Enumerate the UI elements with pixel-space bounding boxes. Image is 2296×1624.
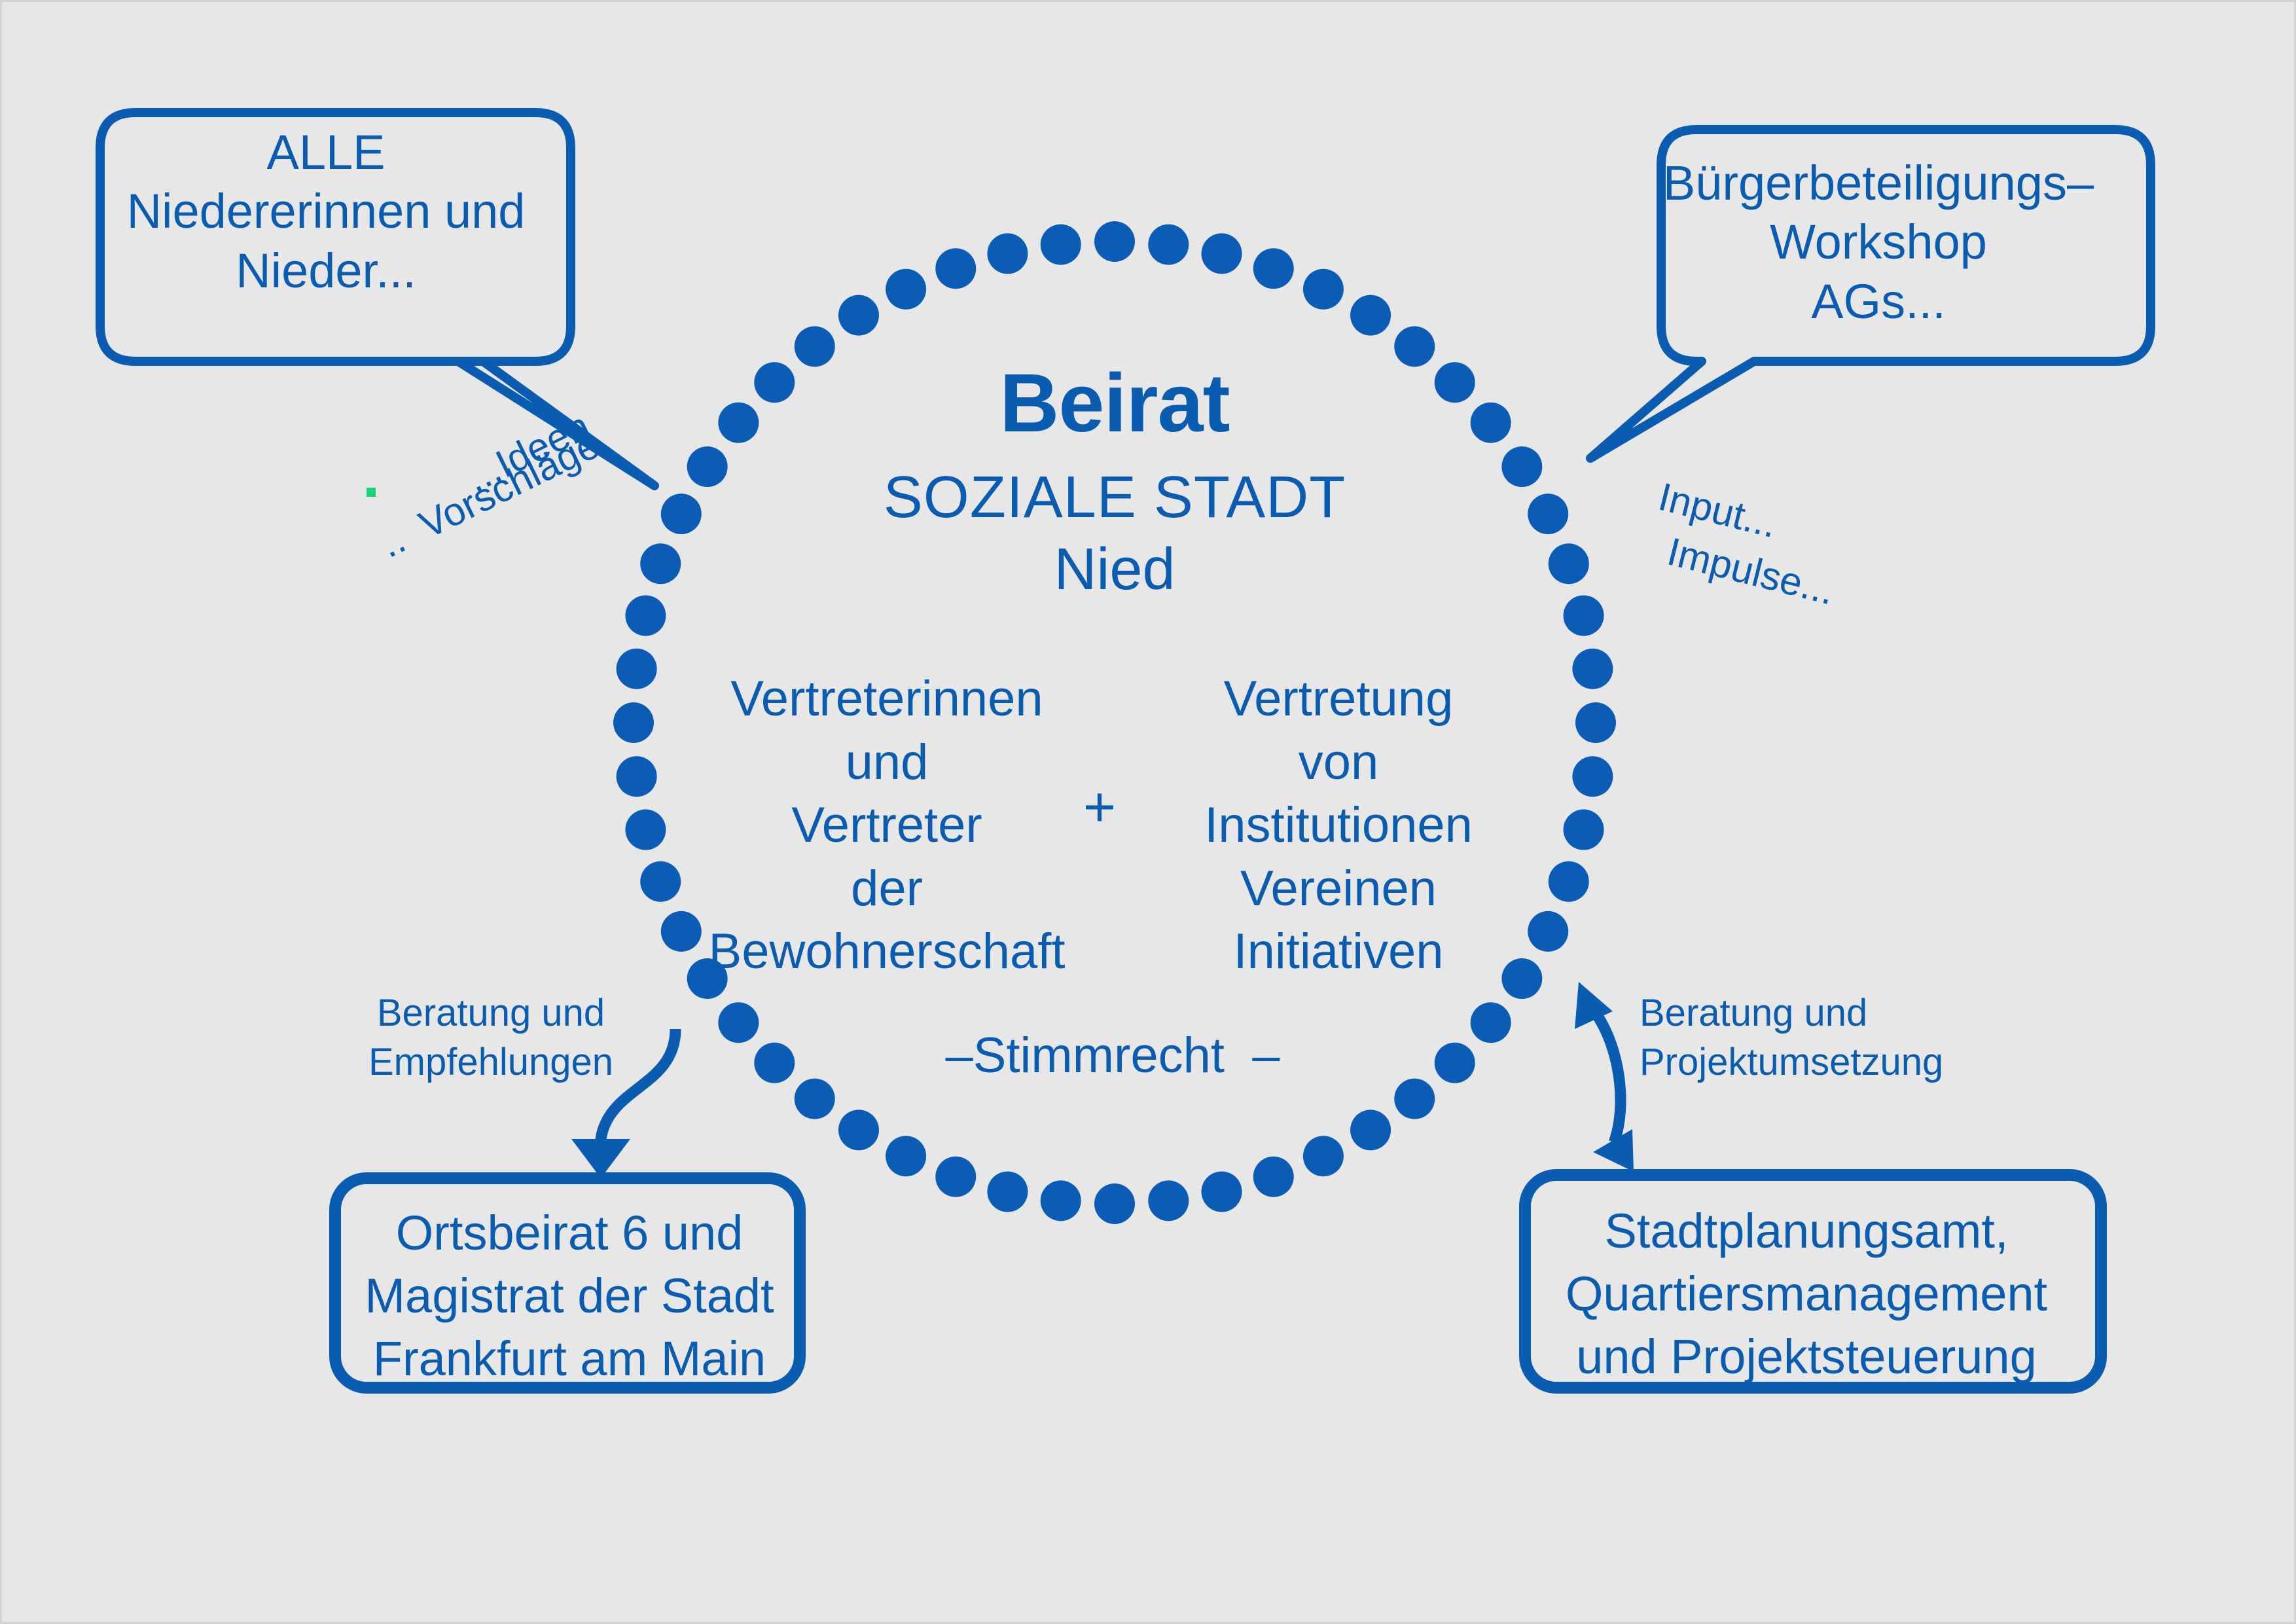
circle-dot	[1253, 248, 1294, 289]
circle-dot	[1253, 1157, 1294, 1197]
circle-dot	[1041, 1180, 1081, 1221]
circle-dot	[1350, 1110, 1391, 1150]
circle-dot	[1471, 403, 1511, 443]
circle-dot	[1435, 1043, 1475, 1083]
circle-dot	[661, 494, 702, 534]
green-accent-dot	[367, 488, 376, 497]
diagram-canvas: ALLE Niedererinnen und Nieder... Bürgerb…	[0, 0, 2296, 1624]
center-title: Beirat	[787, 357, 1442, 449]
center-column-left: Vertreterinnen und Vertreter der Bewohne…	[704, 668, 1070, 984]
circle-dot	[687, 446, 728, 487]
circle-dot	[617, 756, 657, 797]
speech-bubble-top-right-label: Bürgerbeteiligungs– Workshop AGs...	[1649, 154, 2108, 331]
circle-dot	[1572, 756, 1613, 797]
circle-dot	[1303, 1136, 1344, 1176]
circle-dot	[1501, 958, 1542, 999]
circle-dot	[1501, 446, 1542, 487]
circle-dot	[1148, 225, 1189, 265]
circle-dot	[987, 1172, 1028, 1212]
speech-bubble-top-left-label: ALLE Niedererinnen und Nieder...	[90, 123, 562, 300]
circle-dot	[718, 403, 759, 443]
circle-dot	[1094, 221, 1135, 262]
circle-dot	[1394, 1079, 1435, 1119]
circle-dot	[640, 543, 681, 584]
circle-dot	[617, 649, 657, 689]
circle-dot	[886, 269, 926, 310]
circle-dot	[1549, 861, 1589, 902]
circle-dot	[886, 1136, 926, 1176]
annotation-beratung-projektumsetzung: Beratung und Projektumsetzung	[1640, 988, 1967, 1087]
circle-dot	[1564, 595, 1604, 636]
arrow-beratung-projektumsetzung	[1594, 1011, 1621, 1142]
box-bottom-right-label: Stadtplanungsamt, Quartiersmanagement un…	[1532, 1200, 2081, 1389]
circle-dot	[1041, 225, 1081, 265]
circle-dot	[625, 595, 666, 636]
circle-dot	[625, 810, 666, 850]
circle-dot	[1575, 702, 1616, 743]
circle-dot	[1528, 911, 1568, 952]
circle-dot	[1549, 543, 1589, 584]
circle-dot	[838, 1110, 879, 1150]
center-locality: Nied	[787, 537, 1442, 603]
circle-dot	[838, 295, 879, 336]
circle-dot	[754, 1043, 795, 1083]
center-subtitle: SOZIALE STADT	[787, 465, 1442, 531]
center-column-right: Vertretung von Institutionen Vereinen In…	[1175, 668, 1502, 984]
circle-dot	[1471, 1002, 1511, 1043]
circle-dot	[661, 911, 702, 952]
circle-dot	[613, 702, 654, 743]
circle-dot	[718, 1002, 759, 1043]
circle-dot	[1148, 1180, 1189, 1221]
plus-operator: +	[1060, 776, 1139, 839]
circle-dot	[1528, 494, 1568, 534]
circle-dot	[987, 233, 1028, 274]
circle-dot	[1303, 269, 1344, 310]
circle-dot	[1202, 233, 1242, 274]
circle-dot	[1094, 1183, 1135, 1224]
circle-dot	[1572, 649, 1613, 689]
circle-dot	[1350, 295, 1391, 336]
circle-dot	[1202, 1172, 1242, 1212]
circle-dot	[935, 248, 976, 289]
annotation-beratung-empfehlungen: Beratung und Empfehlungen	[353, 988, 628, 1087]
box-bottom-left-label: Ortsbeirat 6 und Magistrat der Stadt Fra…	[347, 1202, 792, 1391]
circle-dot	[935, 1157, 976, 1197]
circle-dot	[640, 861, 681, 902]
circle-dot	[1564, 810, 1604, 850]
circle-dot	[795, 1079, 835, 1119]
center-footnote-stimmrecht: –Stimmrecht –	[884, 1028, 1342, 1083]
